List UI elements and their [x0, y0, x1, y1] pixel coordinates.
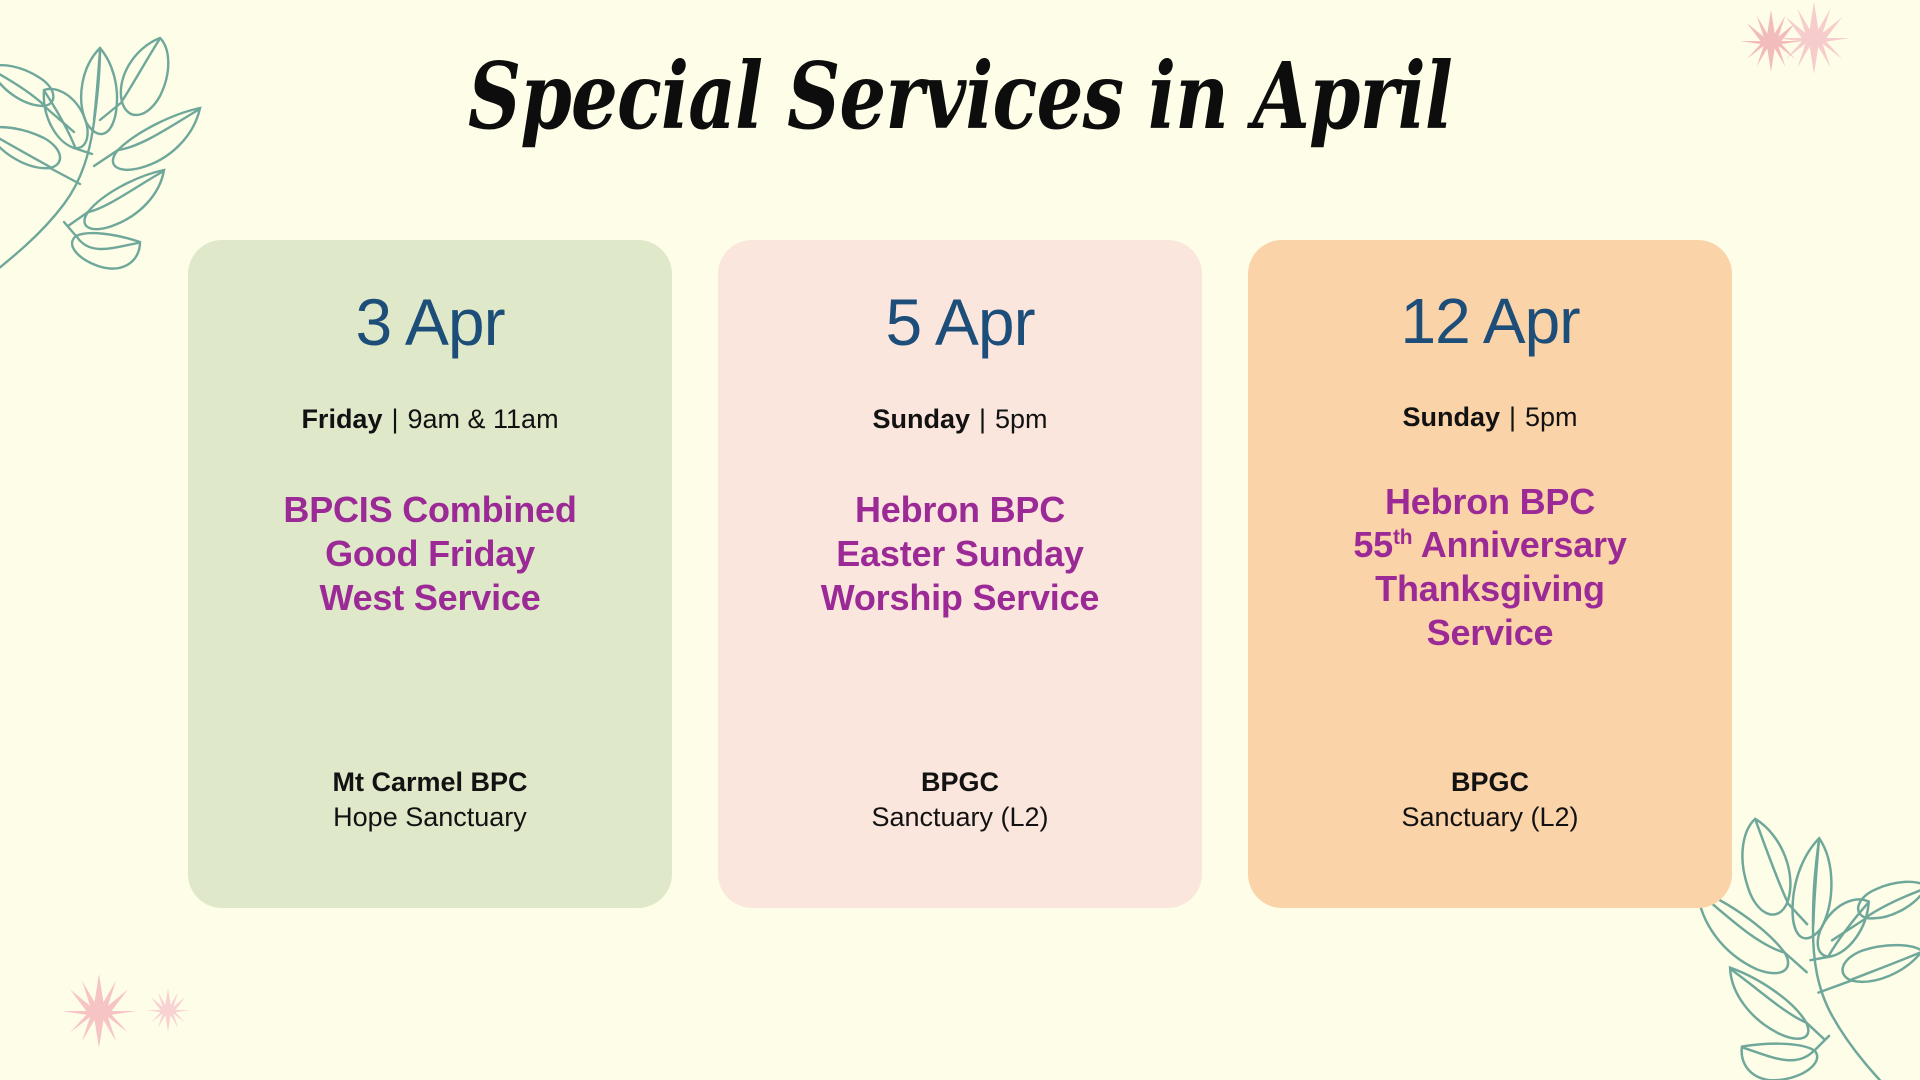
service-line: Easter Sunday: [821, 532, 1099, 576]
card-venue: Mt Carmel BPC Hope Sanctuary: [332, 765, 527, 836]
slide-canvas: Special Services in April 3 Apr Friday|9…: [0, 0, 1920, 1080]
service-line: Hebron BPC: [821, 488, 1099, 532]
service-line: West Service: [283, 576, 576, 620]
card-day: Friday: [301, 404, 382, 434]
card-day: Sunday: [872, 404, 970, 434]
service-line: BPCIS Combined: [283, 488, 576, 532]
card-service-title: Hebron BPC Easter Sunday Worship Service: [821, 488, 1099, 620]
service-line: Thanksgiving: [1353, 567, 1626, 611]
card-day: Sunday: [1402, 402, 1500, 432]
card-date: 3 Apr: [355, 288, 504, 357]
anniversary-word: Anniversary: [1412, 524, 1626, 565]
service-line: Worship Service: [821, 576, 1099, 620]
card-time: 5pm: [1525, 402, 1578, 432]
sparkle-icon-top-right-2: [1778, 2, 1850, 74]
sparkle-icon-top-right-1: [1740, 10, 1802, 72]
card-venue: BPGC Sanctuary (L2): [871, 765, 1048, 836]
anniversary-number: 55: [1353, 524, 1393, 565]
venue-name: BPGC: [1401, 765, 1578, 801]
service-line-anniversary: 55th Anniversary: [1353, 523, 1626, 567]
service-card-5-apr: 5 Apr Sunday|5pm Hebron BPC Easter Sunda…: [718, 240, 1202, 908]
service-line: Hebron BPC: [1353, 480, 1626, 524]
card-venue: BPGC Sanctuary (L2): [1401, 765, 1578, 836]
card-schedule: Sunday|5pm: [872, 403, 1047, 435]
sparkle-icon-bottom-left-1: [62, 974, 136, 1048]
venue-room: Sanctuary (L2): [871, 800, 1048, 836]
service-card-3-apr: 3 Apr Friday|9am & 11am BPCIS Combined G…: [188, 240, 672, 908]
card-schedule: Sunday|5pm: [1402, 401, 1577, 433]
venue-room: Sanctuary (L2): [1401, 800, 1578, 836]
service-line: Good Friday: [283, 532, 576, 576]
service-card-12-apr: 12 Apr Sunday|5pm Hebron BPC 55th Annive…: [1248, 240, 1732, 908]
service-line: Service: [1353, 611, 1626, 655]
card-separator: |: [970, 404, 995, 434]
card-schedule: Friday|9am & 11am: [301, 403, 558, 435]
card-date: 12 Apr: [1400, 288, 1579, 355]
card-separator: |: [382, 404, 407, 434]
venue-name: Mt Carmel BPC: [332, 765, 527, 801]
card-service-title: Hebron BPC 55th Anniversary Thanksgiving…: [1353, 480, 1626, 656]
venue-name: BPGC: [871, 765, 1048, 801]
card-service-title: BPCIS Combined Good Friday West Service: [283, 488, 576, 620]
anniversary-ordinal-suffix: th: [1393, 526, 1412, 549]
page-title: Special Services in April: [192, 48, 1728, 145]
card-separator: |: [1500, 402, 1525, 432]
venue-room: Hope Sanctuary: [332, 800, 527, 836]
card-time: 5pm: [995, 404, 1048, 434]
sparkle-icon-bottom-left-2: [146, 988, 190, 1032]
card-time: 9am & 11am: [407, 404, 558, 434]
service-cards-container: 3 Apr Friday|9am & 11am BPCIS Combined G…: [188, 240, 1732, 908]
card-date: 5 Apr: [885, 288, 1034, 357]
